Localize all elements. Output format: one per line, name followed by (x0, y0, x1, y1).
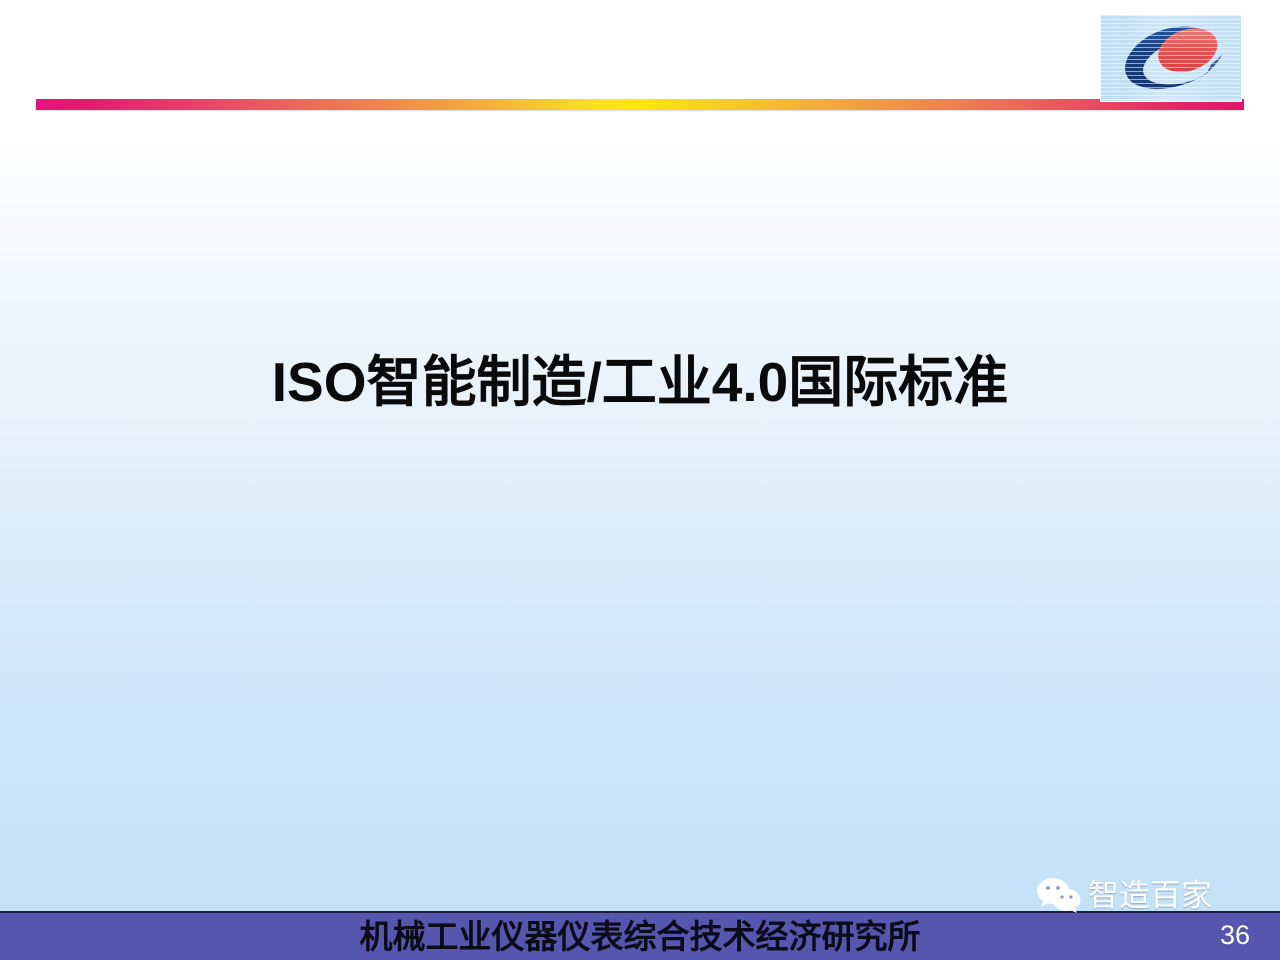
title-block: ISO智能制造/工业4.0国际标准 (0, 352, 1280, 414)
wechat-icon (1036, 876, 1082, 914)
header-gradient-rule (36, 99, 1244, 110)
footer-bar: 机械工业仪器仪表综合技术经济研究所 (0, 911, 1280, 960)
slide-canvas: ISO智能制造/工业4.0国际标准 智造百家 机械工业仪器仪表综合技术经济研究所… (0, 0, 1280, 960)
institute-logo (1100, 14, 1242, 102)
logo-swoosh-icon (1101, 15, 1241, 101)
slide-number: 36 (1220, 922, 1250, 949)
footer-organization-name: 机械工业仪器仪表综合技术经济研究所 (0, 922, 1280, 955)
wechat-watermark: 智造百家 (1036, 876, 1212, 914)
page-title: ISO智能制造/工业4.0国际标准 (272, 352, 1009, 414)
watermark-label: 智造百家 (1088, 880, 1212, 911)
